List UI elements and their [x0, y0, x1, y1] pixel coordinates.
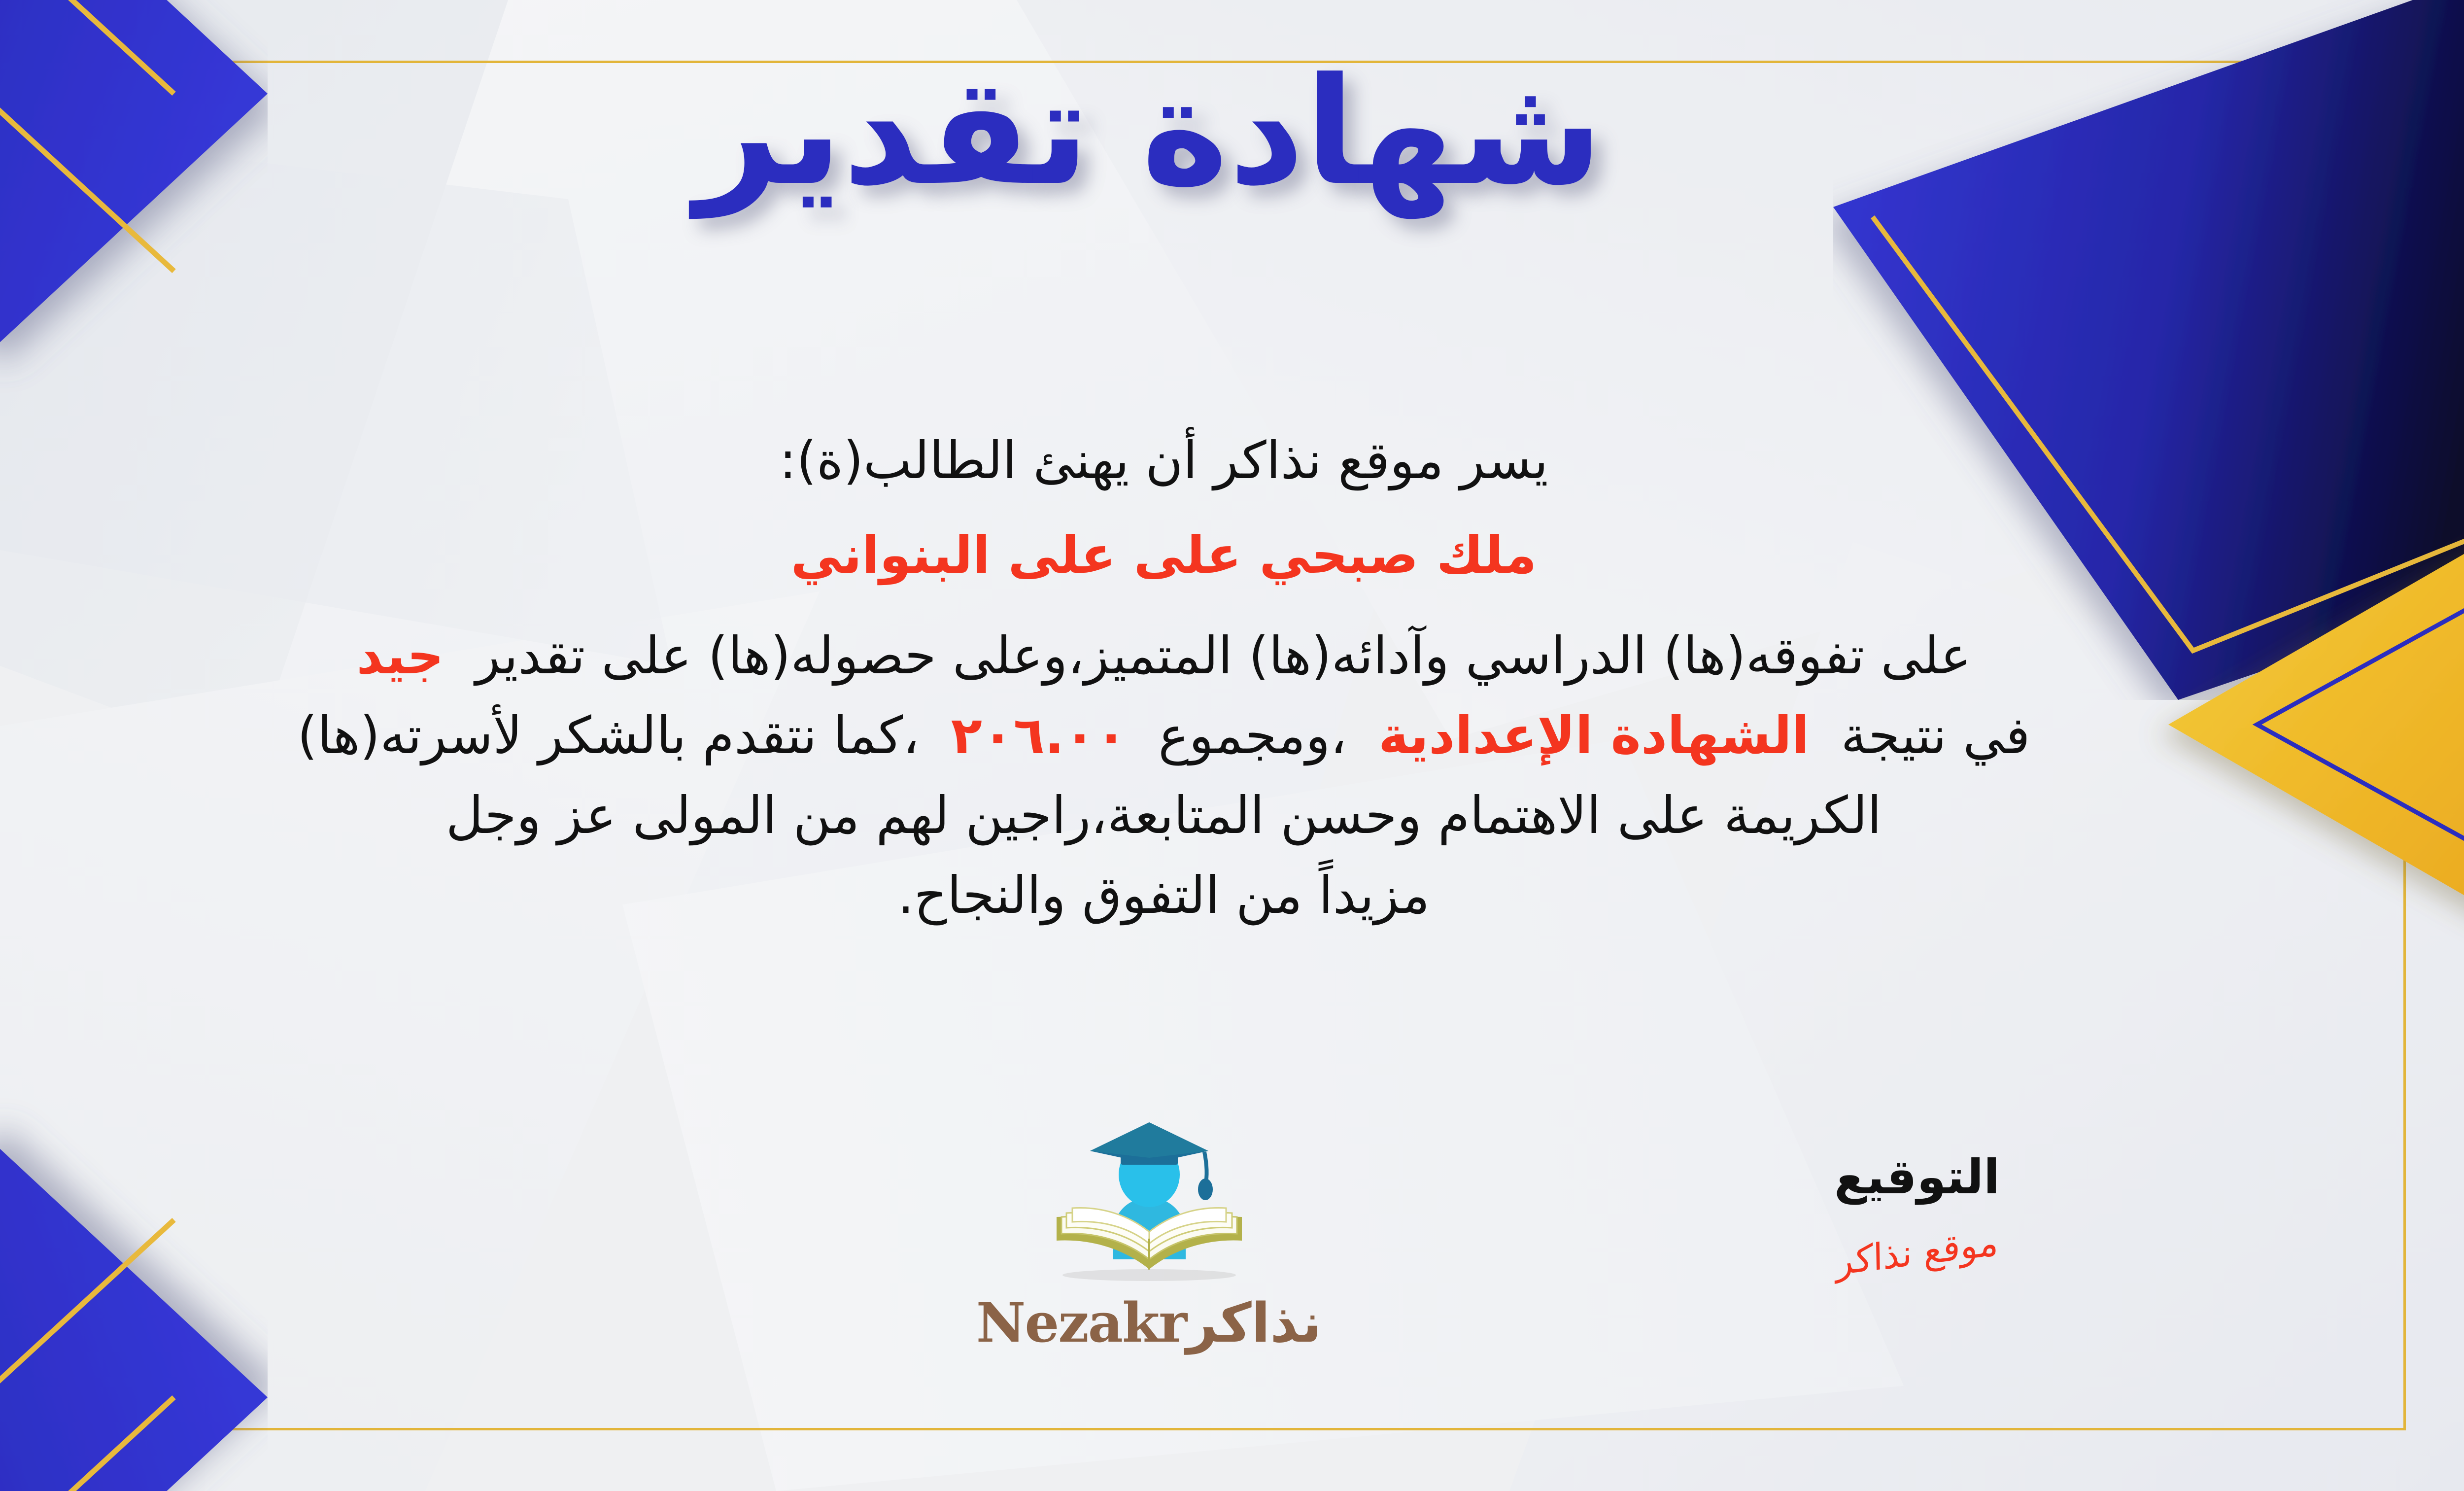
exam-name: الشهادة الإعدادية	[1378, 705, 1810, 765]
thanks-text: ،كما نتقدم بالشكر لأسرته(ها)	[297, 705, 919, 765]
greeting-line: يسر موقع نذاكر أن يهنئ الطالب(ة):	[11, 421, 2316, 499]
achievement-text: على تفوقه(ها) الدراسي وآدائه(ها) المتميز…	[476, 625, 1971, 686]
certificate-title: شهادة تقدير	[0, 54, 2464, 209]
achievement-line: على تفوقه(ها) الدراسي وآدائه(ها) المتميز…	[11, 617, 2316, 694]
site-logo: Nezakrنذاكر	[0, 1111, 2464, 1354]
result-prefix: في نتيجة	[1841, 705, 2030, 765]
logo-name-latin: Nezakr	[976, 1291, 1186, 1354]
total-score: ٢٠٦.٠٠	[951, 705, 1127, 765]
body-paragraph: على تفوقه(ها) الدراسي وآدائه(ها) المتميز…	[11, 617, 2316, 934]
exam-result-line: في نتيجةالشهادة الإعدادية،ومجموع٢٠٦.٠٠،ك…	[11, 696, 2316, 774]
logo-wordmark: Nezakrنذاكر	[976, 1291, 1322, 1354]
certificate-body: يسر موقع نذاكر أن يهنئ الطالب(ة): ملك صب…	[11, 421, 2316, 936]
logo-name-arabic: نذاكر	[1186, 1291, 1322, 1354]
total-prefix: ،ومجموع	[1158, 705, 1347, 765]
certificate-page: شهادة تقدير يسر موقع نذاكر أن يهنئ الطال…	[0, 0, 2464, 1491]
graduate-open-book-icon	[1031, 1111, 1267, 1289]
family-thanks-line: الكريمة على الاهتمام وحسن المتابعة،راجين…	[11, 776, 2316, 854]
student-name: ملك صبحي على على البنواني	[11, 516, 2316, 594]
grade-value: جيد	[356, 625, 444, 686]
closing-line: مزيداً من التفوق والنجاح.	[11, 856, 2316, 934]
